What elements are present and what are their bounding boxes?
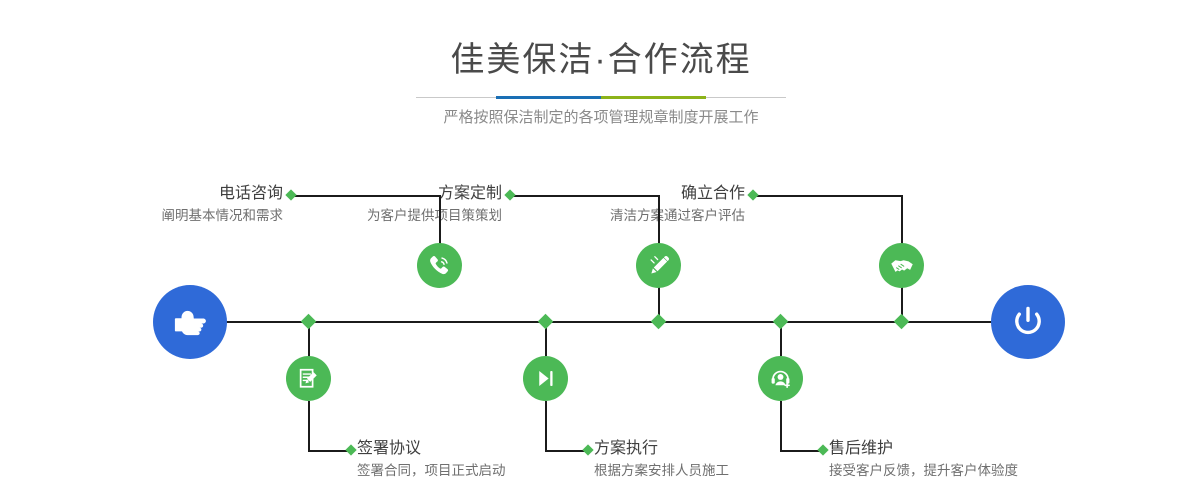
connector-horizontal <box>510 195 659 197</box>
label-marker-diamond <box>817 444 828 455</box>
step-label-top-3: 确立合作 清洁方案通过客户评估 <box>463 183 745 226</box>
step-desc: 清洁方案通过客户评估 <box>463 205 745 226</box>
node-icon-execute[interactable] <box>523 356 568 401</box>
connector-vertical-lower <box>308 401 310 450</box>
label-marker-diamond <box>582 444 593 455</box>
node-icon-sign[interactable] <box>286 356 331 401</box>
step-title: 签署协议 <box>357 438 506 460</box>
process-timeline: 电话咨询 阐明基本情况和需求 <box>0 150 1202 502</box>
step-label-bottom-1: 签署协议 签署合同，项目正式启动 <box>357 438 506 481</box>
axis-marker-diamond <box>301 314 317 330</box>
axis-marker-diamond <box>894 314 910 330</box>
document-edit-icon <box>296 366 321 391</box>
page-title: 佳美保洁·合作流程 <box>0 38 1202 82</box>
step-label-bottom-3: 售后维护 接受客户反馈，提升客户体验度 <box>829 438 1018 481</box>
label-marker-diamond <box>747 189 758 200</box>
step-desc: 接受客户反馈，提升客户体验度 <box>829 460 1018 481</box>
step-label-top-2: 方案定制 为客户提供项目策策划 <box>220 183 502 226</box>
axis-marker-diamond <box>538 314 554 330</box>
headset-support-icon <box>768 366 793 391</box>
connector-horizontal <box>780 450 823 452</box>
title-divider <box>416 96 786 99</box>
divider-segment-blue <box>496 96 601 99</box>
divider-segment-green <box>601 96 706 99</box>
pointing-hand-icon <box>169 301 211 343</box>
step-desc: 为客户提供项目策策划 <box>220 205 502 226</box>
connector-vertical-upper <box>439 195 441 247</box>
step-desc: 签署合同，项目正式启动 <box>357 460 506 481</box>
cooperation-process-infographic: 佳美保洁·合作流程 严格按照保洁制定的各项管理规章制度开展工作 <box>0 0 1202 502</box>
axis-marker-diamond <box>773 314 789 330</box>
timeline-end-node[interactable] <box>991 285 1065 359</box>
step-desc: 根据方案安排人员施工 <box>594 460 729 481</box>
connector-horizontal <box>308 450 351 452</box>
handshake-icon <box>888 252 916 280</box>
connector-vertical-upper <box>658 195 660 247</box>
axis-marker-diamond <box>651 314 667 330</box>
connector-vertical-lower <box>780 401 782 450</box>
step-title: 方案定制 <box>220 183 502 205</box>
node-icon-handshake[interactable] <box>879 243 924 288</box>
step-title: 售后维护 <box>829 438 1018 460</box>
node-icon-plan[interactable] <box>636 243 681 288</box>
connector-horizontal <box>545 450 588 452</box>
connector-horizontal <box>291 195 440 197</box>
step-title: 方案执行 <box>594 438 729 460</box>
connector-vertical-upper <box>901 195 903 247</box>
header: 佳美保洁·合作流程 严格按照保洁制定的各项管理规章制度开展工作 <box>0 0 1202 150</box>
pen-edit-icon <box>646 253 672 279</box>
power-icon <box>1006 300 1050 344</box>
play-execute-icon <box>533 366 558 391</box>
connector-horizontal <box>753 195 902 197</box>
label-marker-diamond <box>345 444 356 455</box>
node-icon-phone[interactable] <box>417 243 462 288</box>
page-subtitle: 严格按照保洁制定的各项管理规章制度开展工作 <box>0 106 1202 130</box>
connector-vertical-lower <box>545 401 547 450</box>
phone-icon <box>426 252 453 279</box>
node-icon-support[interactable] <box>758 356 803 401</box>
timeline-start-node[interactable] <box>153 285 227 359</box>
step-label-bottom-2: 方案执行 根据方案安排人员施工 <box>594 438 729 481</box>
